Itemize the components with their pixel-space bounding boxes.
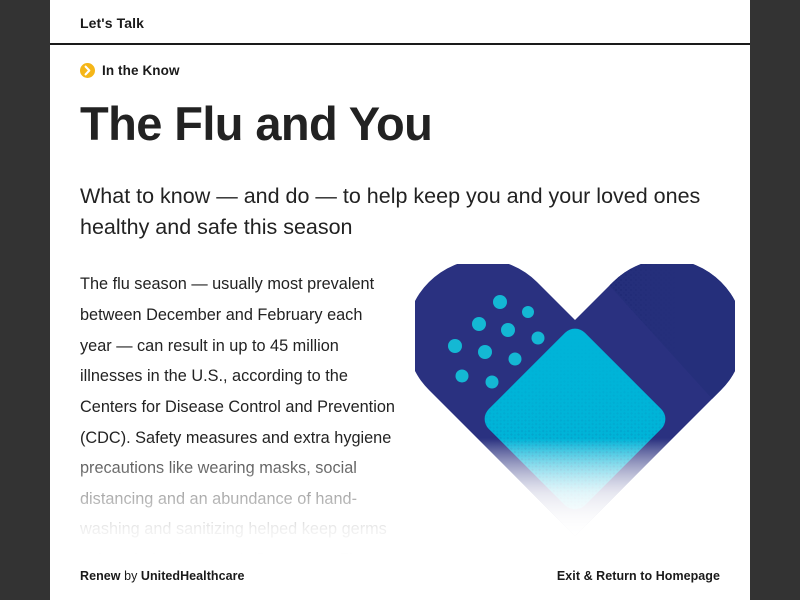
page-title: The Flu and You <box>80 99 720 148</box>
article-text-column: The flu season — usually most prevalent … <box>80 269 395 600</box>
footer-brand-prefix: Renew <box>80 569 121 583</box>
site-brand-title: Let's Talk <box>80 15 144 31</box>
footer-brand-by: by <box>121 569 141 583</box>
footer-brand-suffix: UnitedHealthcare <box>141 569 245 583</box>
hero-illustration <box>415 264 735 544</box>
exit-return-home-link[interactable]: Exit & Return to Homepage <box>557 569 720 583</box>
browser-viewport: Let's Talk In the Know The Flu and You W… <box>0 0 800 600</box>
chevron-right-circle-icon <box>80 63 95 78</box>
page-content: Let's Talk In the Know The Flu and You W… <box>50 0 750 600</box>
footer-brand: Renew by UnitedHealthcare <box>80 569 245 583</box>
article-body: In the Know The Flu and You What to know… <box>50 45 750 555</box>
article-paragraph: The flu season — usually most prevalent … <box>80 269 395 600</box>
article-content-row: The flu season — usually most prevalent … <box>80 269 720 569</box>
article-subhead: What to know — and do — to help keep you… <box>80 181 720 242</box>
site-footer: Renew by UnitedHealthcare Exit & Return … <box>50 555 750 600</box>
article-category[interactable]: In the Know <box>80 63 720 78</box>
article-category-label: In the Know <box>102 63 180 78</box>
site-header: Let's Talk <box>50 0 750 45</box>
